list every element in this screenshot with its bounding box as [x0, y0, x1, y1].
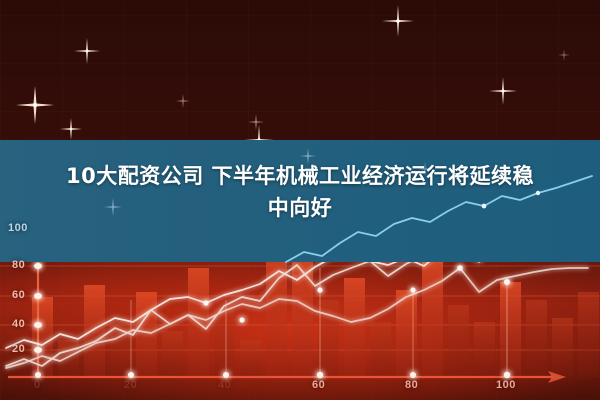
headline-line-2: 中向好 — [0, 192, 600, 224]
x-axis-tick-100: 100 — [496, 379, 516, 391]
x-axis-tick-60: 60 — [312, 379, 325, 391]
x-axis-tick-20: 20 — [124, 379, 137, 391]
headline-text: 10大配资公司 下半年机械工业经济运行将延续稳 中向好 — [0, 160, 600, 224]
y-axis-tick-40: 40 — [12, 318, 25, 330]
x-axis-tick-40: 40 — [218, 379, 231, 391]
y-axis-tick-100: 100 — [8, 222, 28, 234]
y-axis-tick-60: 60 — [12, 289, 25, 301]
image-canvas: 10大配资公司 下半年机械工业经济运行将延续稳 中向好 100 80 60 40… — [0, 0, 600, 400]
headline-line-1: 10大配资公司 下半年机械工业经济运行将延续稳 — [0, 160, 600, 192]
x-axis-tick-0: 0 — [34, 379, 41, 391]
y-axis-tick-80: 80 — [12, 259, 25, 271]
x-axis-tick-80: 80 — [405, 379, 418, 391]
y-axis-tick-20: 20 — [12, 343, 25, 355]
